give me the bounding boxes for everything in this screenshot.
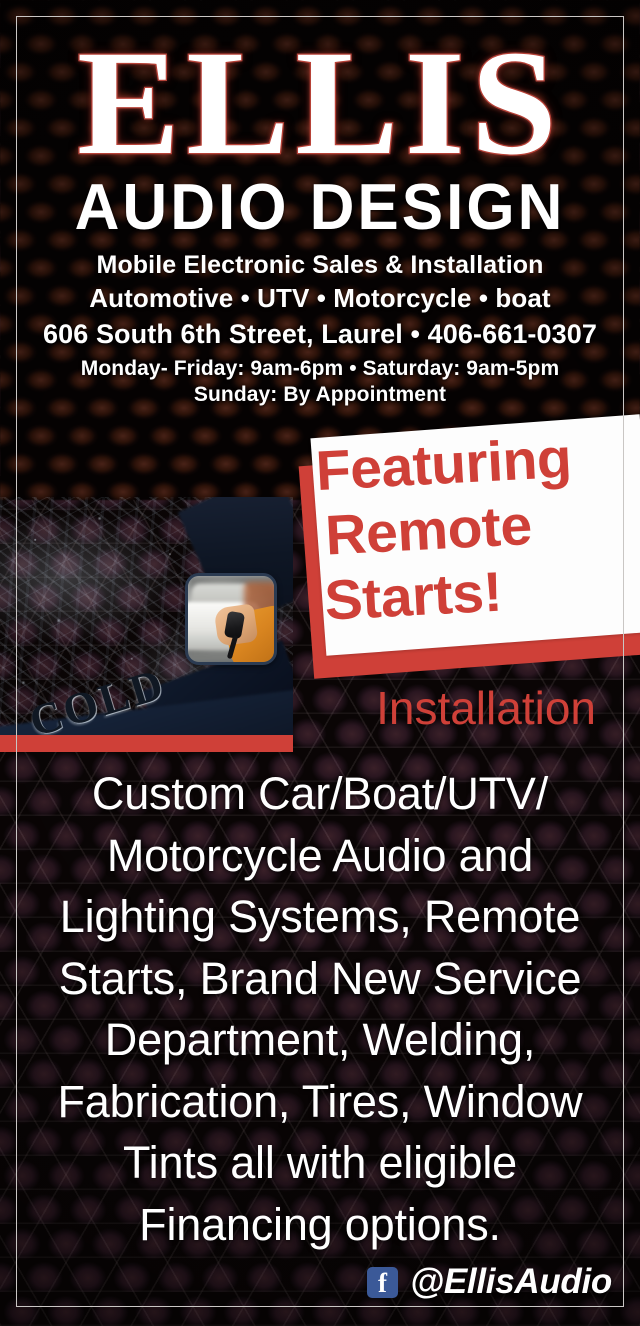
body-line: Department, Welding, (22, 1009, 618, 1071)
hours-weekday: Monday- Friday: 9am-6pm • Saturday: 9am-… (0, 356, 640, 381)
brand-subtitle-audio-design: AUDIO DESIGN (0, 174, 640, 241)
body-line: Lighting Systems, Remote (22, 886, 618, 948)
header-info-block: Mobile Electronic Sales & Installation A… (0, 250, 640, 407)
body-line: Starts, Brand New Service (22, 948, 618, 1010)
body-line: Financing options. (22, 1194, 618, 1256)
body-line: Motorcycle Audio and (22, 825, 618, 887)
red-divider-bar (0, 735, 293, 752)
facebook-f-glyph: f (367, 1268, 398, 1298)
hours-sunday: Sunday: By Appointment (0, 382, 640, 407)
services-line: Mobile Electronic Sales & Installation (0, 250, 640, 280)
address-and-phone[interactable]: 606 South 6th Street, Laurel • 406-661-0… (0, 318, 640, 350)
vehicle-types-line: Automotive • UTV • Motorcycle • boat (0, 283, 640, 314)
services-description: Custom Car/Boat/UTV/ Motorcycle Audio an… (22, 763, 618, 1255)
featuring-remote-starts-banner: Featuring Remote Starts! (304, 418, 640, 674)
body-line: Fabrication, Tires, Window (22, 1071, 618, 1133)
body-line: Custom Car/Boat/UTV/ (22, 763, 618, 825)
key-fob-inset-photo (185, 573, 277, 665)
installation-heading: Installation (0, 681, 640, 735)
facebook-icon[interactable]: f (367, 1267, 398, 1298)
banner-text-block: Featuring Remote Starts! (317, 422, 627, 632)
advertisement-poster: ELLIS AUDIO DESIGN Mobile Electronic Sal… (0, 0, 640, 1326)
facebook-handle[interactable]: @EllisAudio (410, 1262, 612, 1302)
body-line: Tints all with eligible (22, 1132, 618, 1194)
social-footer[interactable]: f @EllisAudio (367, 1262, 612, 1302)
brand-name-ellis: ELLIS (0, 24, 640, 182)
header-section: ELLIS AUDIO DESIGN Mobile Electronic Sal… (0, 0, 640, 407)
